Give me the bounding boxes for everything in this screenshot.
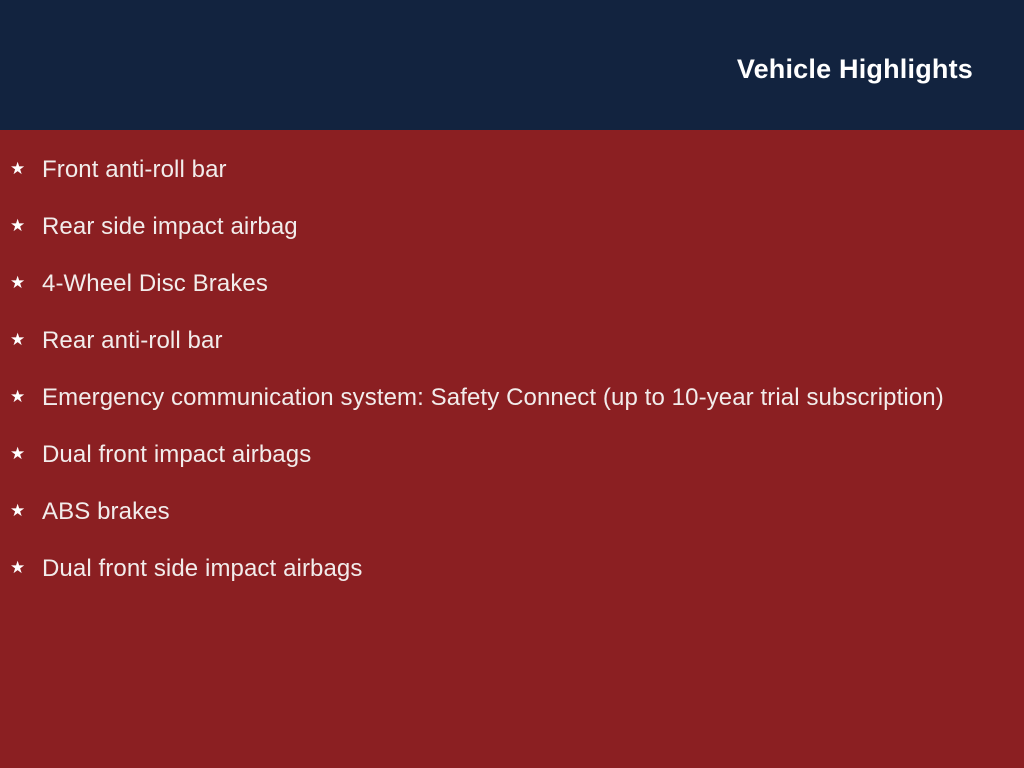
vehicle-highlights-slide: Vehicle Highlights ★ Front anti-roll bar… bbox=[0, 0, 1024, 768]
list-item-label: Rear side impact airbag bbox=[42, 211, 947, 242]
list-item: ★ Rear anti-roll bar bbox=[0, 325, 984, 356]
list-item: ★ Rear side impact airbag bbox=[0, 211, 984, 242]
list-item-label: Front anti-roll bar bbox=[42, 154, 947, 185]
slide-header-banner: Vehicle Highlights bbox=[0, 0, 1024, 130]
list-item-label: Emergency communication system: Safety C… bbox=[42, 382, 947, 413]
list-item-label: Rear anti-roll bar bbox=[42, 325, 947, 356]
star-bullet-icon: ★ bbox=[10, 268, 42, 298]
slide-content-body: ★ Front anti-roll bar ★ Rear side impact… bbox=[0, 130, 1024, 768]
list-item-label: Dual front side impact airbags bbox=[42, 553, 947, 584]
star-bullet-icon: ★ bbox=[10, 325, 42, 355]
page-title: Vehicle Highlights bbox=[737, 55, 973, 85]
list-item: ★ ABS brakes bbox=[0, 496, 984, 527]
star-bullet-icon: ★ bbox=[10, 496, 42, 526]
vehicle-highlights-list: ★ Front anti-roll bar ★ Rear side impact… bbox=[0, 154, 984, 584]
star-bullet-icon: ★ bbox=[10, 439, 42, 469]
list-item-label: ABS brakes bbox=[42, 496, 947, 527]
list-item-label: Dual front impact airbags bbox=[42, 439, 947, 470]
star-bullet-icon: ★ bbox=[10, 553, 42, 583]
star-bullet-icon: ★ bbox=[10, 382, 42, 412]
list-item: ★ 4-Wheel Disc Brakes bbox=[0, 268, 984, 299]
list-item: ★ Dual front side impact airbags bbox=[0, 553, 984, 584]
star-bullet-icon: ★ bbox=[10, 211, 42, 241]
list-item: ★ Dual front impact airbags bbox=[0, 439, 984, 470]
list-item-label: 4-Wheel Disc Brakes bbox=[42, 268, 947, 299]
star-bullet-icon: ★ bbox=[10, 154, 42, 184]
list-item: ★ Emergency communication system: Safety… bbox=[0, 382, 984, 413]
list-item: ★ Front anti-roll bar bbox=[0, 154, 984, 185]
